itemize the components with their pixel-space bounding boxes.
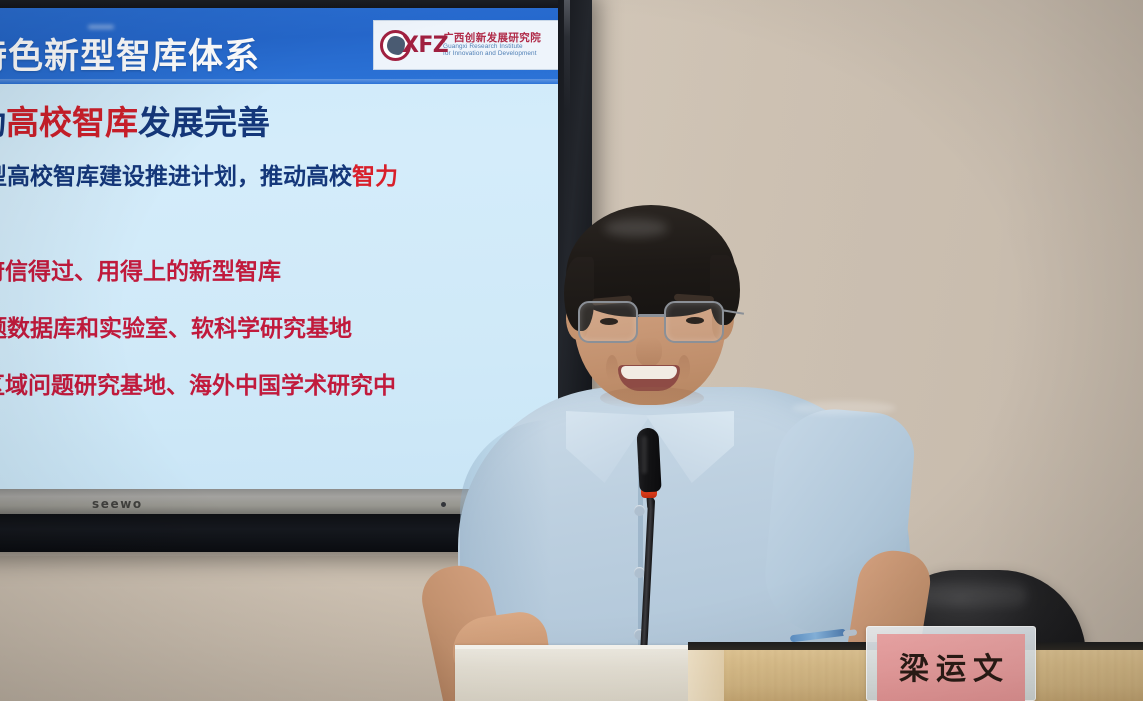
bullet-1-text: 色新型高校智库建设推进计划，推动高校: [0, 164, 352, 190]
slide-bullet-5: 球和区域问题研究基地、海外中国学术研究中: [0, 366, 396, 400]
podium-top-edge: [455, 645, 695, 649]
slide-bullet-4: 学专题数据库和实验室、软科学研究基地: [0, 309, 352, 343]
slide-bullet-1: 色新型高校智库建设推进计划，推动高校智力: [0, 157, 398, 191]
chin-shading: [600, 387, 704, 409]
shirt-button: [634, 505, 645, 516]
eye-right: [686, 317, 704, 324]
podium-panel: [455, 645, 695, 701]
microphone-head-highlight: [642, 436, 647, 474]
slide-title: 国特色新型智库体系: [0, 28, 260, 79]
xfz-logo-mark: XFZ: [379, 26, 441, 64]
heading-text-after: 发展完善: [138, 103, 270, 142]
name-plate-text: 梁运文: [892, 644, 1010, 691]
microphone-head: [636, 427, 661, 492]
presentation-photo-scene: 国特色新型智库体系 XFZ 广西创新发展研究院 Guangxi Research…: [0, 0, 1143, 701]
glasses-bridge: [638, 314, 666, 317]
seewo-brand-label: seewo: [92, 497, 143, 511]
slide-heading: 推动高校智库发展完善: [0, 96, 270, 144]
eye-left: [600, 318, 618, 325]
desk-panel-seam: [688, 650, 724, 701]
name-plate-card: 梁运文: [877, 634, 1025, 701]
bullet-1-highlight: 智力: [352, 164, 398, 190]
logo-name-en-line2: for Innovation and Development: [443, 51, 558, 58]
display-bezel-top: [0, 0, 592, 8]
heading-highlight: 高校智库: [6, 103, 138, 142]
hair-highlight: [604, 219, 668, 237]
smile-crease-left: [606, 355, 618, 381]
sleeve-hem: [792, 401, 896, 415]
display-sensor-icon: [441, 502, 446, 507]
speaker-person: [470, 205, 890, 701]
institute-logo: XFZ 广西创新发展研究院 Guangxi Research Institute…: [373, 20, 558, 70]
teeth: [621, 366, 677, 379]
nose: [636, 337, 662, 367]
logo-monogram: XFZ: [402, 33, 448, 58]
slide-bullet-3: 和政府信得过、用得上的新型智库: [0, 252, 281, 286]
logo-text-block: 广西创新发展研究院 Guangxi Research Institute for…: [441, 33, 558, 57]
